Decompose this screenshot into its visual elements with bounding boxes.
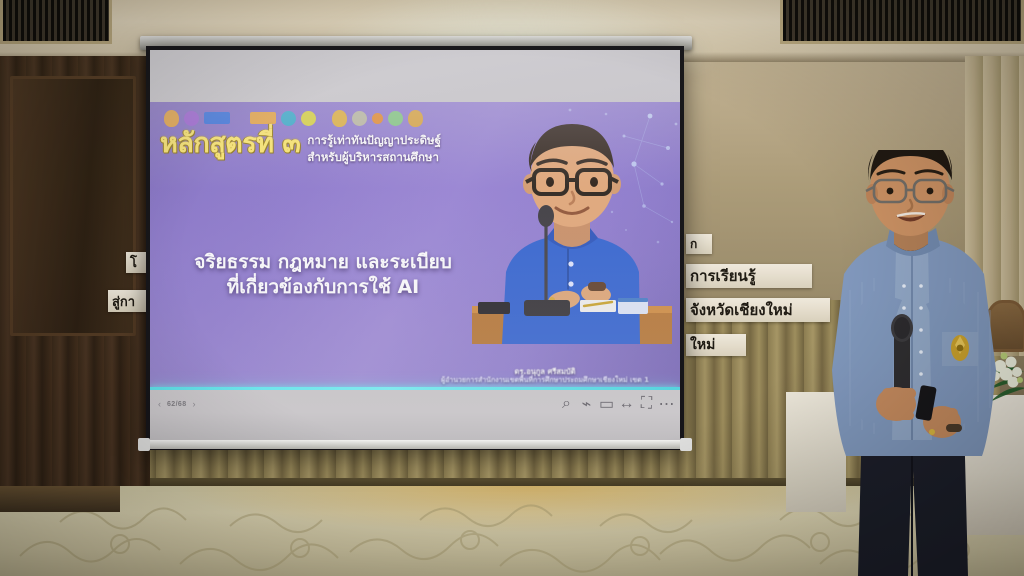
slide-title-line2: ที่เกี่ยวข้องกับการใช้ AI [158, 275, 488, 300]
slide-speaker-credit: ดร.อนุกูล ศรีสมบัติ ผู้อำนวยการสำนักงานเ… [418, 367, 672, 384]
logo-orange-card [250, 112, 276, 124]
fit-width-icon[interactable]: ↔ [621, 398, 632, 409]
logo-ministry-garuda [164, 110, 179, 127]
air-vent-grille-right [780, 0, 1024, 44]
logo-yellow-ring [301, 111, 316, 126]
wall-banner-fragment-right-4: ใหม่ [686, 334, 746, 356]
logo-obec-circle [184, 111, 199, 126]
wall-banner-fragment-right-1: ก [686, 234, 712, 254]
slide-canvas: หลักสูตรที่ ๓ การรู้เท่าทันปัญญาประดิษฐ์… [150, 102, 680, 390]
air-vent-grille-left [0, 0, 112, 44]
logo-blue-wordmark [204, 112, 230, 124]
slide-headline: หลักสูตรที่ ๓ การรู้เท่าทันปัญญาประดิษฐ์… [160, 130, 490, 165]
slide-logo-row [164, 108, 423, 128]
projection-screen-surface: หลักสูตรที่ ๓ การรู้เท่าทันปัญญาประดิษฐ์… [150, 50, 680, 440]
screen-roller-end-left [138, 438, 150, 451]
present-icon[interactable]: ▭ [601, 398, 612, 409]
logo-gold-pagoda [332, 110, 347, 127]
share-icon[interactable]: ⌁ [581, 398, 592, 409]
page-navigation[interactable]: ‹ 62/68 › [158, 399, 196, 409]
presenter-person [800, 150, 1024, 576]
presentation-photo-scene: โ สู่กา ก การเรียนรู้ จังหวัดเชียงใหม่ ใ… [0, 0, 1024, 576]
logo-teal-ring [281, 111, 296, 126]
logo-gold-crest [408, 110, 423, 127]
logo-pale-circle [352, 111, 367, 126]
logo-small-orange [372, 113, 383, 124]
logo-green-circle [388, 111, 403, 126]
wall-banner-fragment-right-2: การเรียนรู้ [686, 264, 812, 288]
slide-speaker-name: ดร.อนุกูล ศรีสมบัติ [418, 367, 672, 376]
page-counter: 62/68 [167, 401, 187, 408]
prev-page-button[interactable]: ‹ [158, 399, 161, 409]
projection-screen-weight-bar [144, 440, 686, 449]
viewer-toolbar-icons: ⌕ ⌁ ▭ ↔ ⛶ ⋯ [561, 398, 672, 409]
document-viewer-toolbar: ‹ 62/68 › ⌕ ⌁ ▭ ↔ ⛶ ⋯ [150, 390, 680, 440]
slide-title-line1: จริยธรรม กฎหมาย และระเบียบ [158, 250, 488, 275]
wall-banner-fragment-left-2: สู่กา [108, 290, 150, 312]
fullscreen-icon[interactable]: ⛶ [641, 398, 652, 409]
screen-roller-end-right [680, 438, 692, 451]
wall-banner-fragment-left-1: โ [126, 252, 146, 273]
slide-speaker-role: ผู้อำนวยการสำนักงานเขตพื้นที่การศึกษาประ… [418, 376, 672, 384]
slide-avatar-illustration [472, 104, 672, 344]
slide-headline-main: หลักสูตรที่ ๓ [160, 130, 300, 157]
slide-main-title: จริยธรรม กฎหมาย และระเบียบ ที่เกี่ยวข้อง… [158, 250, 488, 299]
more-options-icon[interactable]: ⋯ [661, 398, 672, 409]
slide-headline-sub-line1: การรู้เท่าทันปัญญาประดิษฐ์ [307, 133, 441, 147]
zoom-icon[interactable]: ⌕ [561, 398, 572, 409]
slide-headline-sub-line2: สำหรับผู้บริหารสถานศึกษา [307, 150, 441, 164]
floor-wood-trim [0, 486, 120, 512]
next-page-button[interactable]: › [193, 399, 196, 409]
lapel-pin-icon [951, 335, 969, 361]
